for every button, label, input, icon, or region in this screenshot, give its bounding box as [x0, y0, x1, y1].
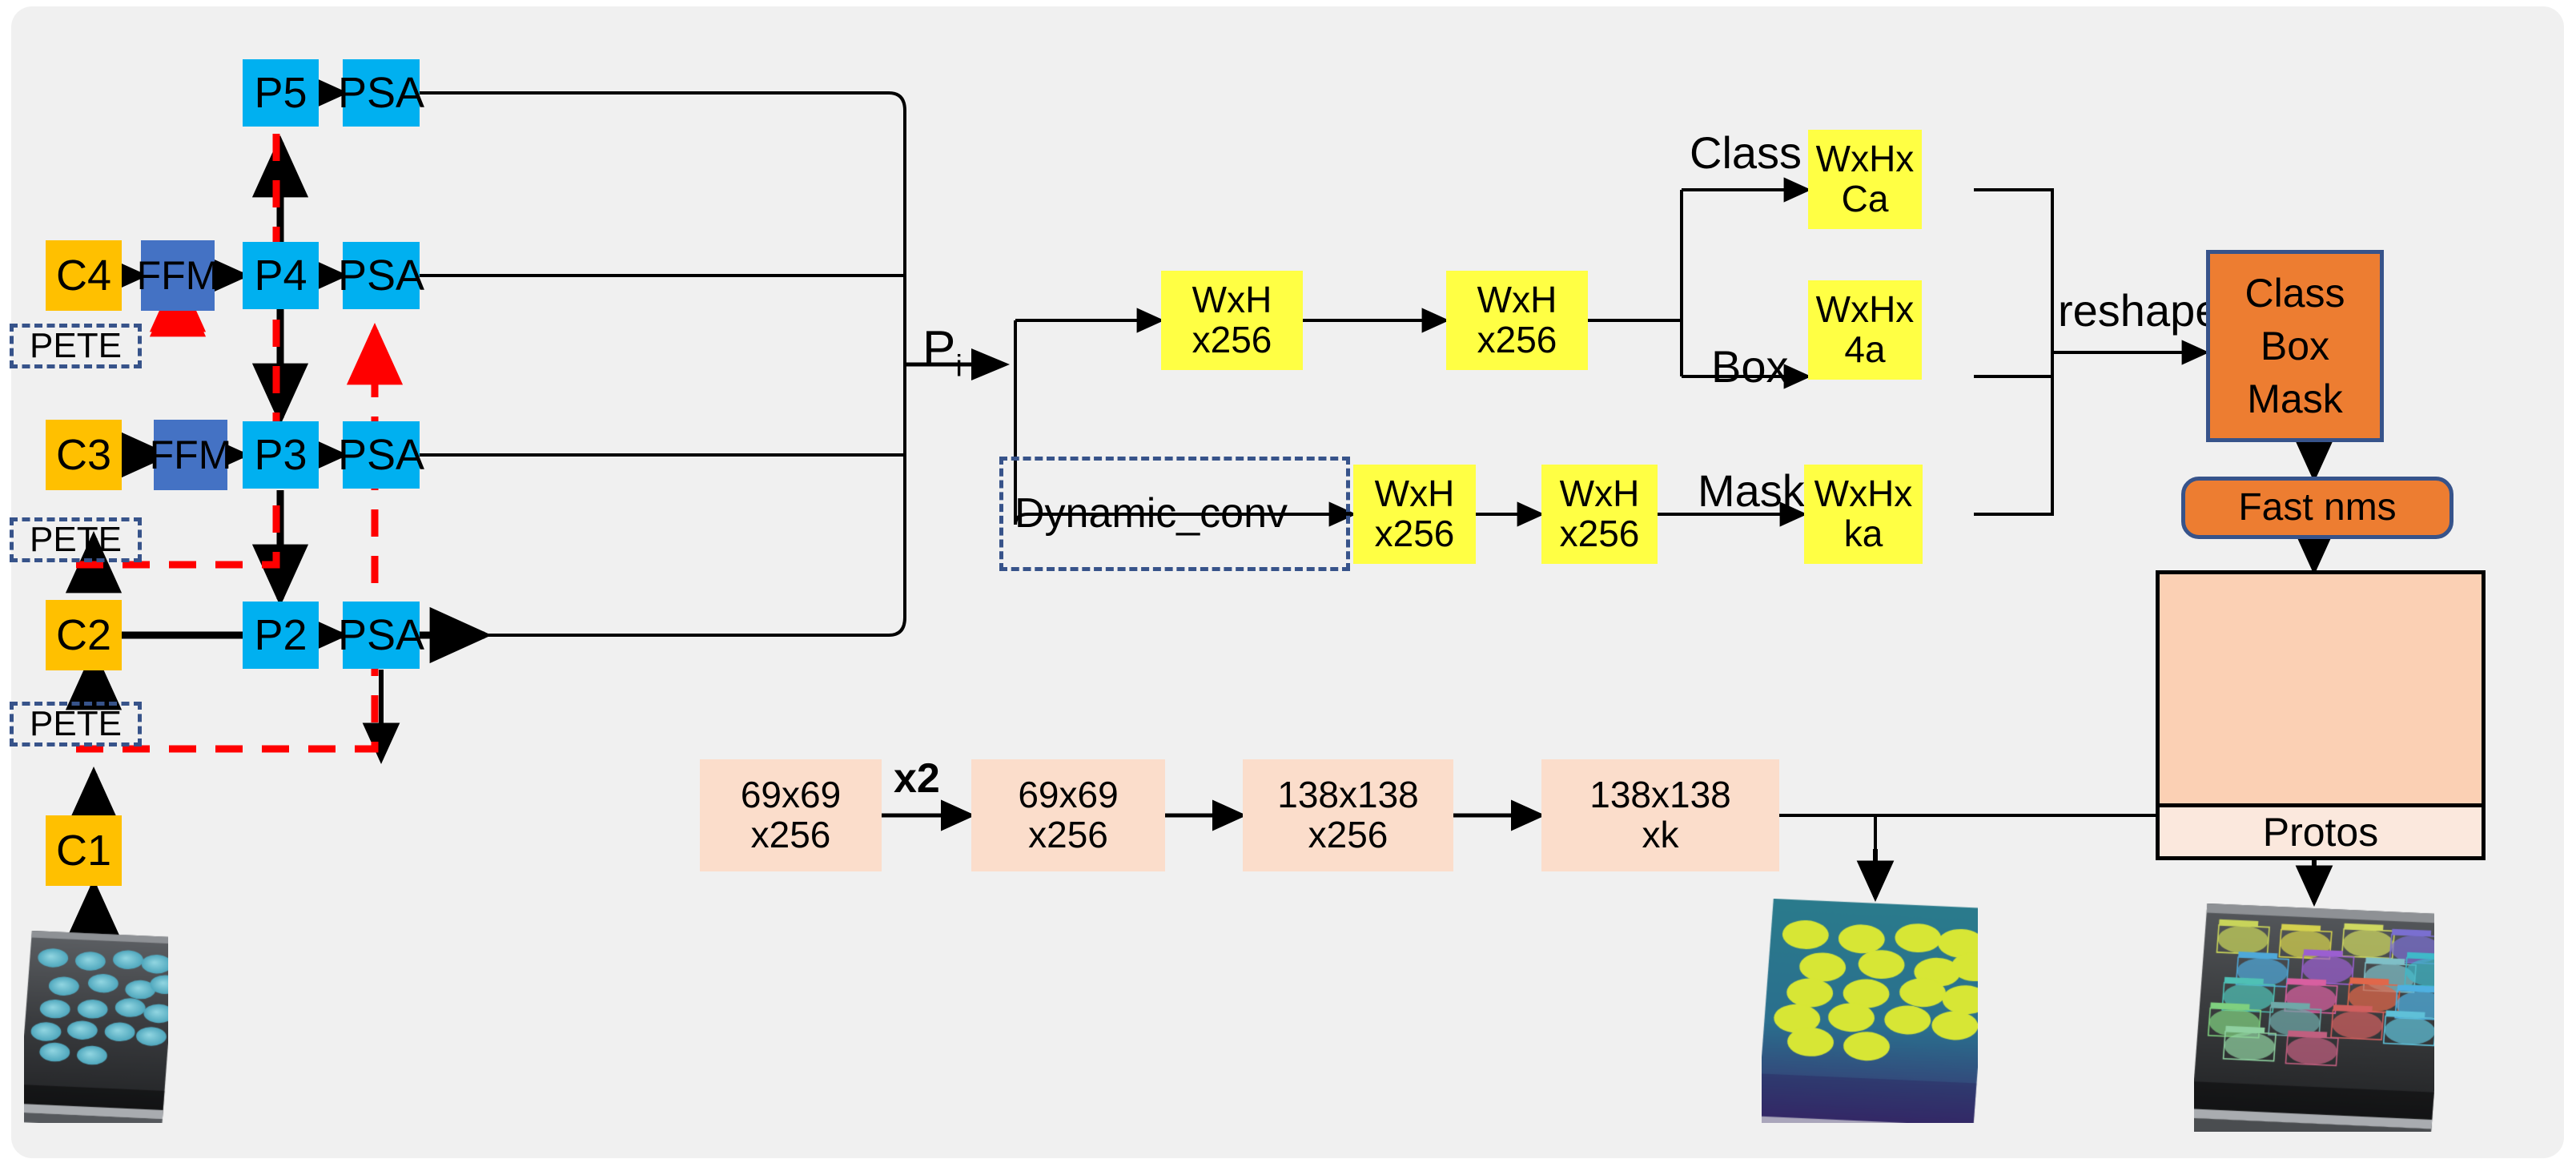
- psa-module-p2[interactable]: PSA: [343, 602, 420, 669]
- head-conv-1[interactable]: WxH x256: [1161, 271, 1303, 370]
- protos-box[interactable]: Protos: [2156, 807, 2486, 860]
- ffm-label: FFM: [150, 433, 232, 477]
- head-conv-2-line2: x256: [1477, 320, 1557, 360]
- pyramid-level-p4[interactable]: P4: [243, 242, 319, 309]
- class-out-line1: WxHx: [1816, 139, 1915, 179]
- pete-label: PETE: [30, 705, 122, 743]
- box-out-line1: WxHx: [1816, 290, 1915, 330]
- pete-module-c2[interactable]: PETE: [10, 702, 142, 746]
- mask-output-tensor[interactable]: WxHx ka: [1804, 465, 1923, 564]
- protonet-2-line2: x256: [1028, 815, 1108, 855]
- backbone-stage-c4[interactable]: C4: [46, 240, 122, 311]
- pyramid-level-p5[interactable]: P5: [243, 59, 319, 127]
- head-conv-1-line2: x256: [1192, 320, 1272, 360]
- dynamic-conv-label: Dynamic_conv: [1015, 491, 1288, 536]
- box-output-tensor[interactable]: WxHx 4a: [1808, 280, 1922, 380]
- merged-class-line: Class: [2244, 267, 2345, 320]
- reshape-label: reshape: [2058, 284, 2220, 336]
- psa-label: PSA: [338, 252, 424, 299]
- mask-conv-2[interactable]: WxH x256: [1541, 465, 1658, 564]
- p5-label: P5: [254, 70, 307, 116]
- ffm-label: FFM: [137, 254, 219, 297]
- ffm-module-bottom[interactable]: FFM: [154, 420, 227, 490]
- psa-module-p5[interactable]: PSA: [343, 59, 420, 127]
- pete-label: PETE: [30, 521, 122, 559]
- protonet-2-line1: 69x69: [1018, 775, 1118, 815]
- fast-nms-button[interactable]: Fast nms: [2181, 477, 2453, 539]
- dynamic-conv-module[interactable]: Dynamic_conv: [999, 457, 1350, 571]
- segmentation-result: [2194, 903, 2434, 1132]
- pyramid-bus-label: Pi: [922, 320, 962, 384]
- class-out-line2: Ca: [1842, 179, 1889, 219]
- protonet-1-line2: x256: [751, 815, 831, 855]
- protonet-1-line1: 69x69: [741, 775, 841, 815]
- protos-label: Protos: [2263, 811, 2379, 854]
- pi-subscript: i: [955, 348, 962, 383]
- fast-nms-label: Fast nms: [2238, 487, 2396, 529]
- p4-label: P4: [254, 252, 307, 299]
- pete-module-c4[interactable]: PETE: [10, 324, 142, 368]
- protonet-4-line1: 138x138: [1589, 775, 1731, 815]
- protonet-4-line2: xk: [1642, 815, 1679, 855]
- backbone-stage-c1[interactable]: C1: [46, 815, 122, 886]
- c3-label: C3: [56, 432, 111, 478]
- box-branch-label: Box: [1711, 340, 1789, 392]
- diagram-canvas: C4 C3 C2 C1 PETE PETE PETE FFM FFM P5 P4…: [0, 0, 2576, 1171]
- merged-box-line: Box: [2261, 320, 2329, 372]
- prototype-heatmap: [1762, 899, 1978, 1123]
- c4-label: C4: [56, 252, 111, 299]
- protonet-3-line2: x256: [1308, 815, 1388, 855]
- backbone-stage-c2[interactable]: C2: [46, 600, 122, 670]
- head-conv-2-line1: WxH: [1477, 280, 1557, 320]
- pi-base: P: [922, 321, 955, 376]
- input-photo: [24, 931, 168, 1123]
- mask-conv-2-line2: x256: [1560, 514, 1640, 554]
- psa-label: PSA: [338, 612, 424, 658]
- mask-conv-2-line1: WxH: [1560, 474, 1640, 514]
- p3-label: P3: [254, 432, 307, 478]
- pyramid-level-p3[interactable]: P3: [243, 421, 319, 489]
- final-output-box[interactable]: [2156, 570, 2486, 807]
- merged-mask-line: Mask: [2247, 372, 2342, 425]
- protonet-block-2[interactable]: 69x69 x256: [971, 759, 1165, 871]
- c1-label: C1: [56, 827, 111, 874]
- head-conv-2[interactable]: WxH x256: [1446, 271, 1588, 370]
- protonet-block-4[interactable]: 138x138 xk: [1541, 759, 1779, 871]
- pete-module-c3[interactable]: PETE: [10, 517, 142, 562]
- class-output-tensor[interactable]: WxHx Ca: [1808, 130, 1922, 229]
- mask-branch-label: Mask: [1698, 465, 1805, 517]
- p2-label: P2: [254, 612, 307, 658]
- psa-label: PSA: [338, 70, 424, 116]
- mask-out-line1: WxHx: [1814, 474, 1913, 514]
- psa-module-p3[interactable]: PSA: [343, 421, 420, 489]
- pete-label: PETE: [30, 327, 122, 365]
- repeat-x2-label: x2: [894, 755, 940, 803]
- c2-label: C2: [56, 612, 111, 658]
- box-out-line2: 4a: [1844, 330, 1885, 370]
- protonet-block-1[interactable]: 69x69 x256: [700, 759, 882, 871]
- class-branch-label: Class: [1690, 127, 1802, 179]
- backbone-stage-c3[interactable]: C3: [46, 420, 122, 490]
- ffm-module-top[interactable]: FFM: [141, 240, 215, 311]
- pyramid-level-p2[interactable]: P2: [243, 602, 319, 669]
- protonet-block-3[interactable]: 138x138 x256: [1243, 759, 1453, 871]
- head-conv-1-line1: WxH: [1192, 280, 1272, 320]
- mask-conv-1-line1: WxH: [1375, 474, 1455, 514]
- merged-predictions-box[interactable]: Class Box Mask: [2206, 250, 2384, 442]
- protonet-3-line1: 138x138: [1277, 775, 1419, 815]
- mask-conv-1[interactable]: WxH x256: [1353, 465, 1476, 564]
- mask-out-line2: ka: [1844, 514, 1883, 554]
- psa-label: PSA: [338, 432, 424, 478]
- psa-module-p4[interactable]: PSA: [343, 242, 420, 309]
- mask-conv-1-line2: x256: [1375, 514, 1455, 554]
